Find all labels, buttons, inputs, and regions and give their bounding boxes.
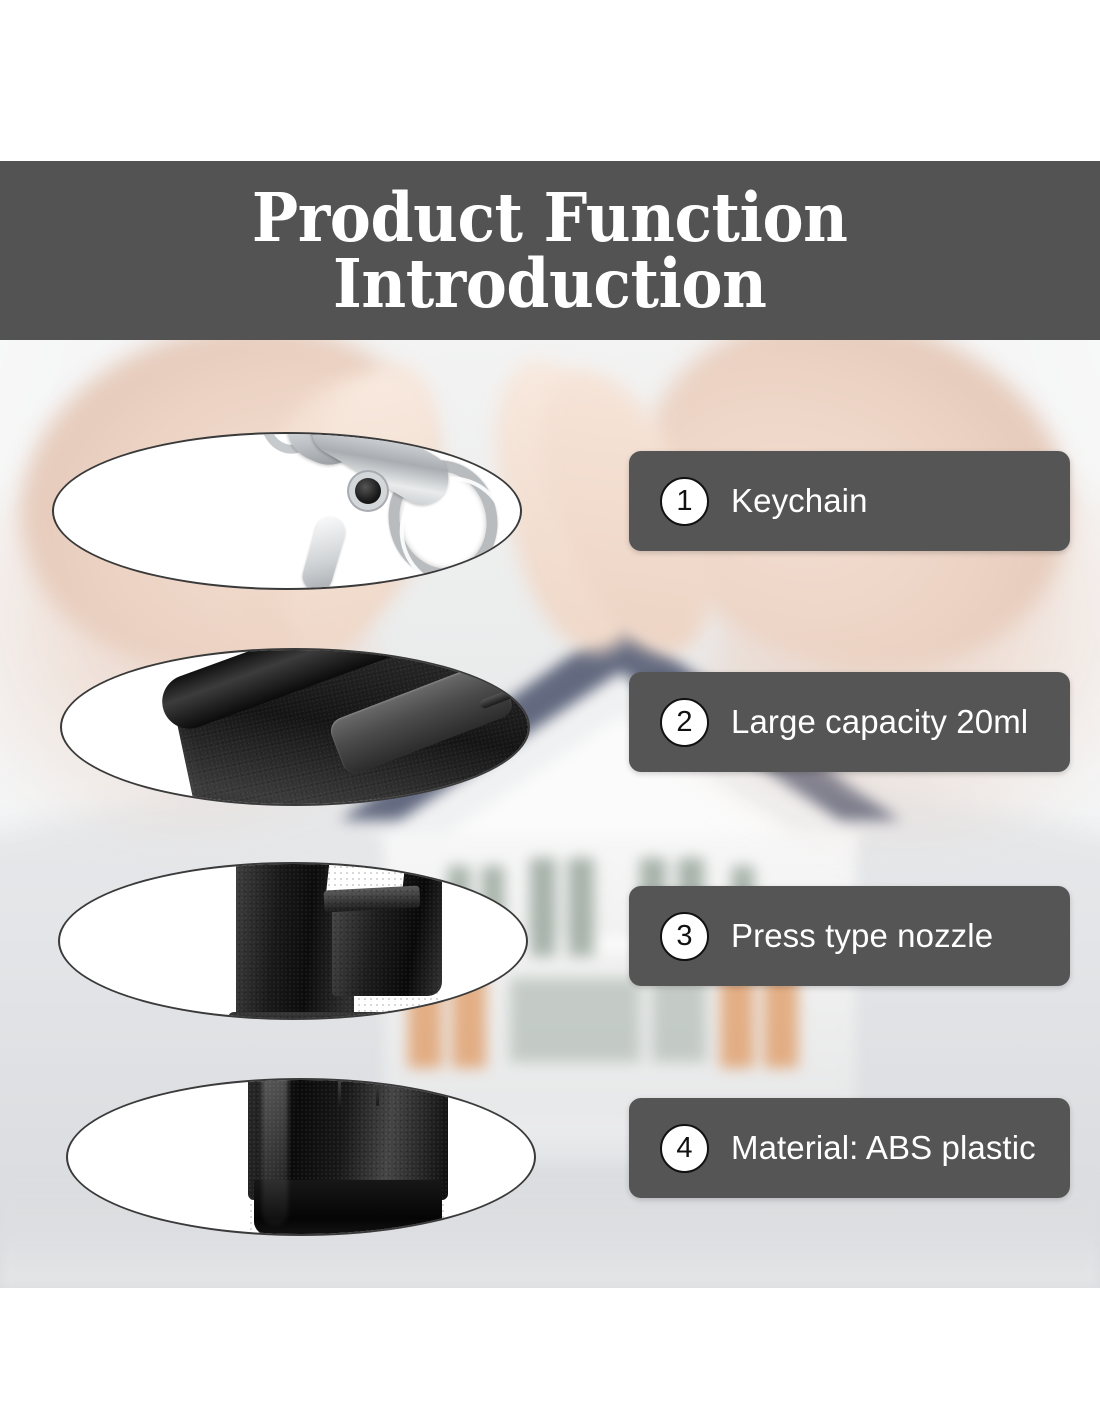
- feature-label-2[interactable]: 2 Large capacity 20ml: [629, 672, 1070, 772]
- base-seam: [376, 1078, 379, 1106]
- bottle-body-icon: [160, 648, 530, 806]
- house-window: [568, 858, 594, 956]
- base-seam: [338, 1078, 341, 1106]
- nozzle-texture: [236, 862, 442, 1020]
- clasp-rivet: [355, 478, 381, 504]
- product-infographic: Product Function Introduction: [0, 0, 1100, 1422]
- keychain-clasp-icon: [269, 432, 509, 590]
- feature-image-oval-4: [66, 1078, 536, 1236]
- house-column: [720, 972, 754, 1068]
- house-door: [510, 978, 640, 1062]
- feature-label-text-4: Material: ABS plastic: [731, 1129, 1036, 1167]
- feature-image-oval-3: [58, 862, 528, 1020]
- feature-label-text-1: Keychain: [731, 482, 868, 520]
- house-column: [764, 972, 798, 1068]
- press-nozzle-icon: [220, 862, 460, 1020]
- feature-number-badge-4: 4: [660, 1124, 709, 1173]
- feature-label-4[interactable]: 4 Material: ABS plastic: [629, 1098, 1070, 1198]
- clasp-lever: [299, 513, 349, 590]
- feature-label-text-2: Large capacity 20ml: [731, 703, 1028, 741]
- feature-label-text-3: Press type nozzle: [731, 917, 993, 955]
- house-window-lower: [652, 978, 706, 1062]
- feature-number-badge-1: 1: [660, 477, 709, 526]
- feature-label-1[interactable]: 1 Keychain: [629, 451, 1070, 551]
- feature-number-badge-3: 3: [660, 912, 709, 961]
- feature-image-oval-1: [52, 432, 522, 590]
- feature-image-oval-2: [60, 648, 530, 806]
- feature-label-3[interactable]: 3 Press type nozzle: [629, 886, 1070, 986]
- bottle-base-icon: [218, 1078, 478, 1236]
- feature-number-badge-2: 2: [660, 698, 709, 747]
- house-window: [530, 858, 556, 956]
- clasp-body: [302, 432, 458, 514]
- header-banner: Product Function Introduction: [0, 161, 1100, 340]
- base-highlight: [262, 1078, 288, 1226]
- page-title: Product Function Introduction: [252, 185, 848, 316]
